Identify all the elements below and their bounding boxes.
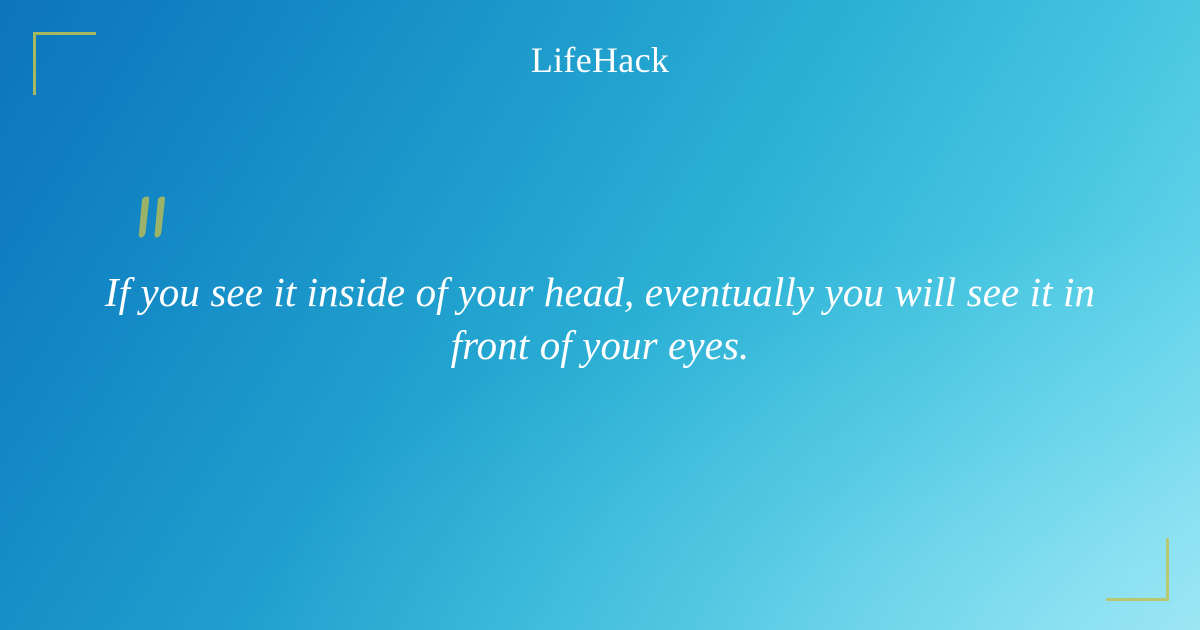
quote-text: If you see it inside of your head, event…: [100, 266, 1100, 372]
quote-block: If you see it inside of your head, event…: [100, 196, 1100, 372]
quote-mark-icon: [134, 196, 174, 238]
quote-card: LifeHack If you see it inside of your he…: [0, 0, 1200, 630]
brand-logo: LifeHack: [0, 39, 1200, 81]
corner-bracket-bottom-right-icon: [1106, 538, 1169, 601]
